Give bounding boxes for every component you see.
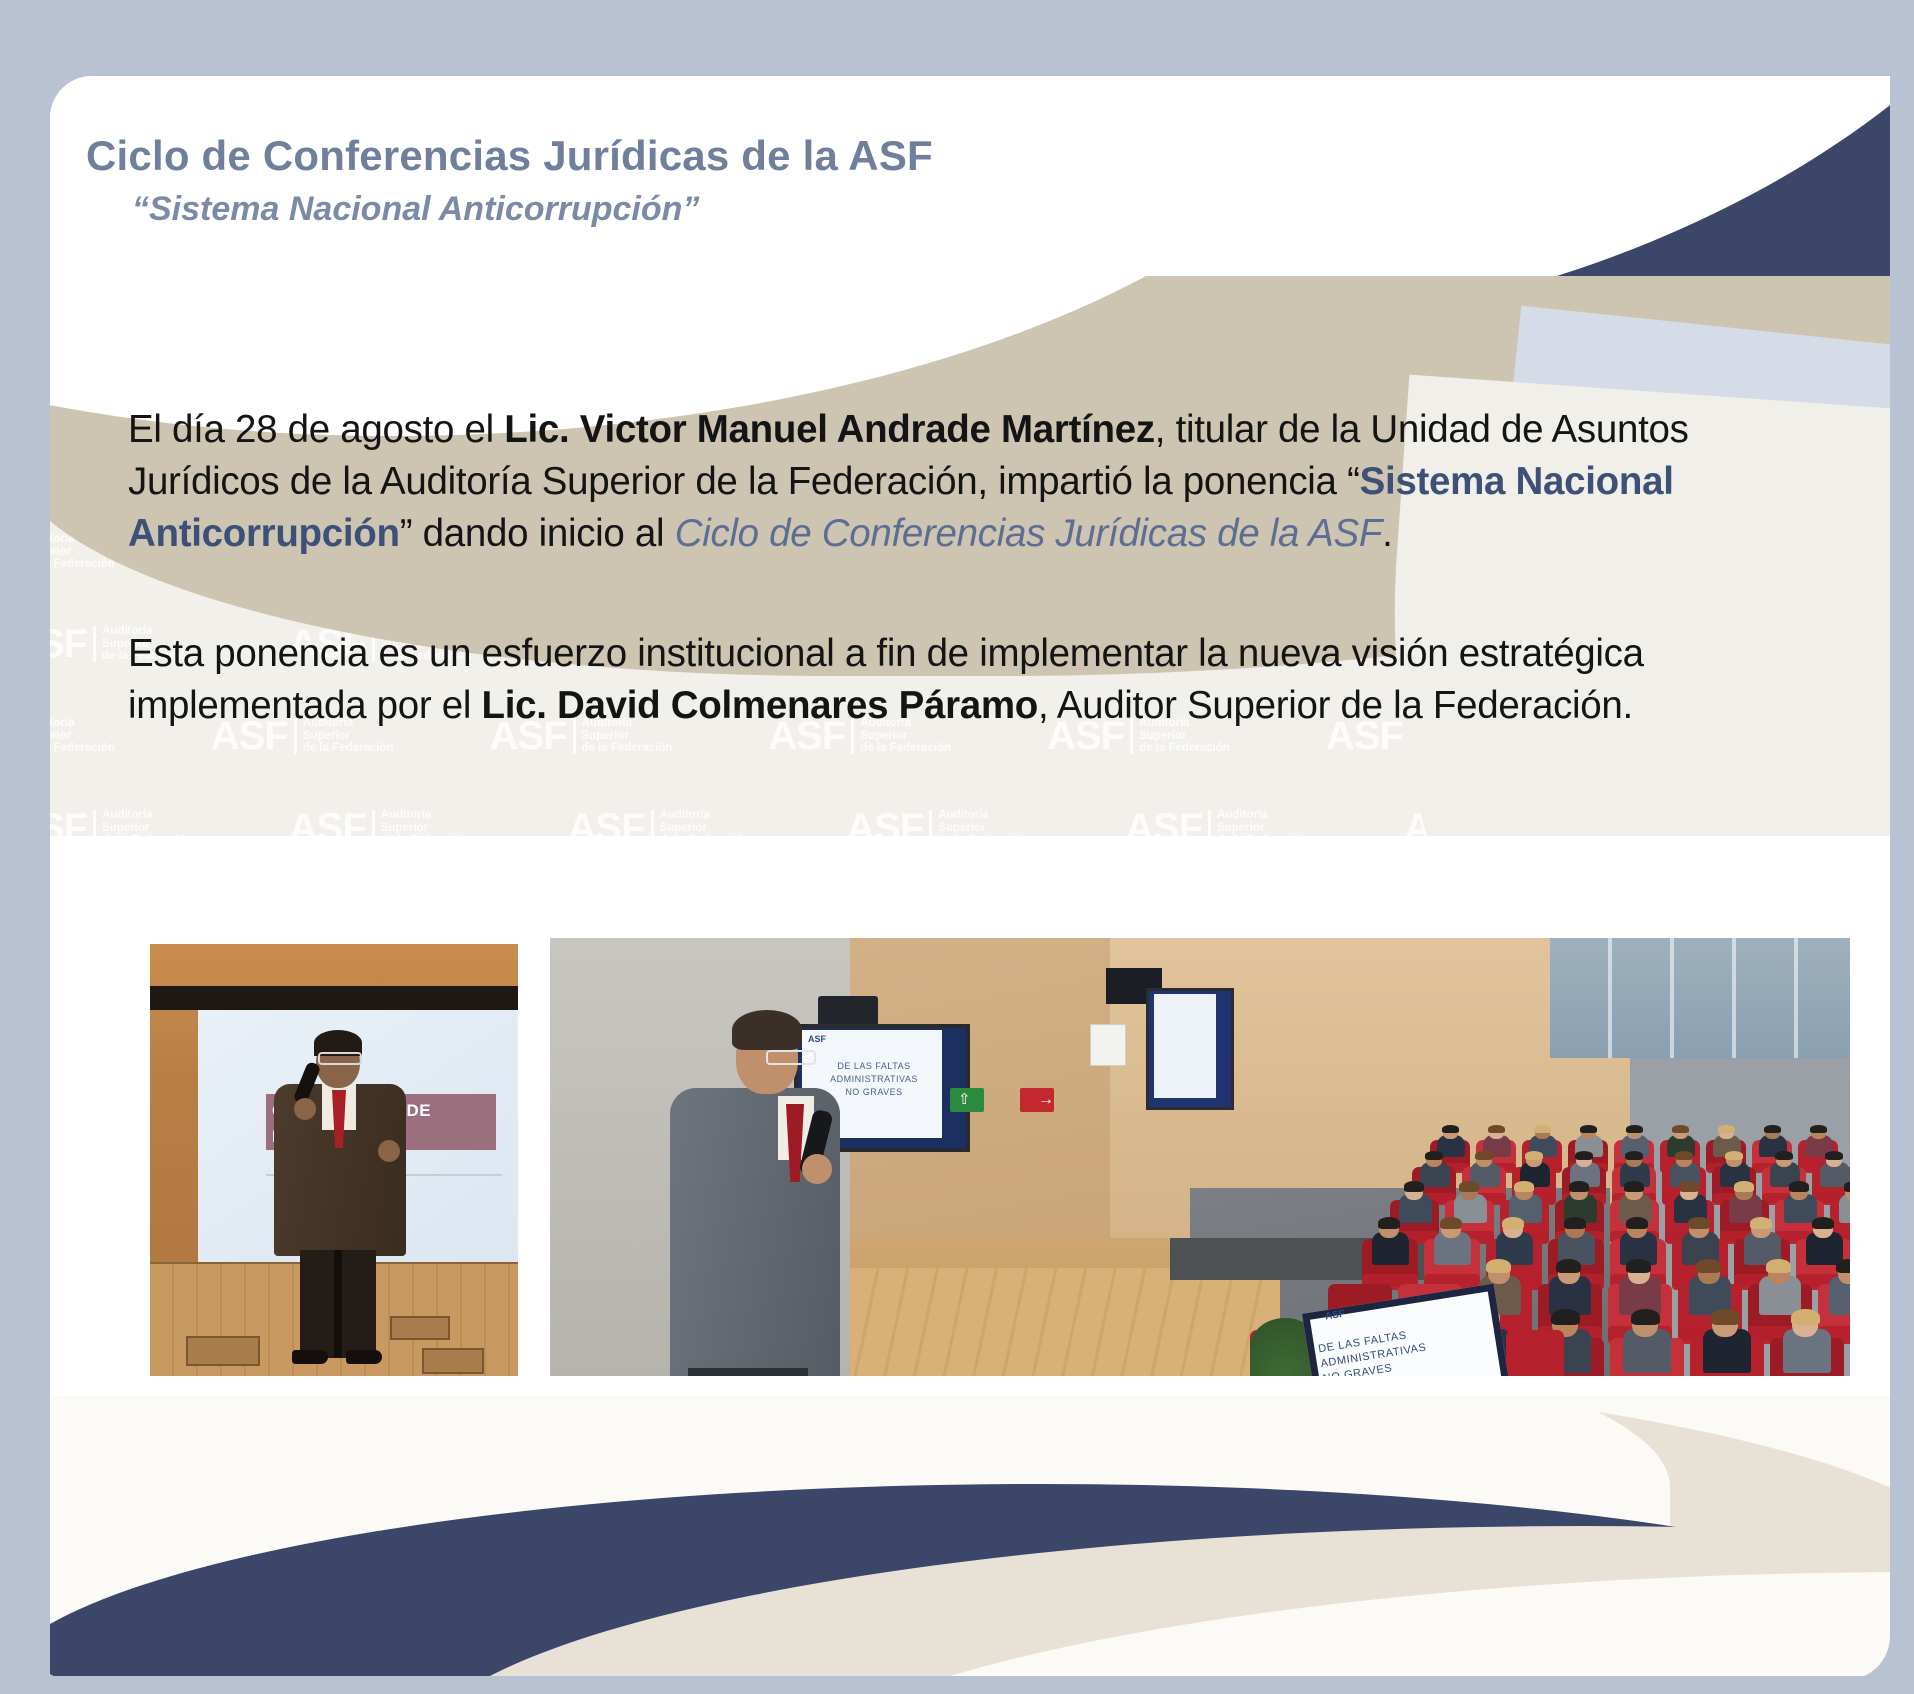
- photo1-screen-frame: [150, 986, 518, 1010]
- audience-member-hair: [1378, 1217, 1400, 1229]
- audience-member-hair: [1626, 1125, 1643, 1133]
- audience-member-hair: [1631, 1309, 1660, 1325]
- audience-member-hair: [1580, 1125, 1597, 1133]
- photo1-speaker-hand-left: [294, 1098, 316, 1120]
- photo1-floor-hatch-1: [186, 1336, 260, 1366]
- watermark-acronym: ASF: [289, 808, 366, 836]
- watermark-asf-logo: ASFAuditoríaSuperiorde la Federación: [568, 808, 751, 836]
- audience-member-hair: [1626, 1259, 1651, 1273]
- watermark-lines: AuditoríaSuperiorde la Federación: [102, 809, 193, 836]
- watermark-acronym: ASF: [50, 624, 87, 664]
- audience-member-hair: [1564, 1217, 1586, 1229]
- photo1-speaker-legs: [300, 1250, 376, 1358]
- photo1-speaker-shoe-left: [292, 1350, 328, 1364]
- p2-seg3: , Auditor Superior de la Federación.: [1038, 684, 1633, 727]
- p1-series-title: Ciclo de Conferencias Jurídicas de la AS…: [675, 512, 1382, 555]
- audience-member-hair: [1442, 1125, 1459, 1133]
- watermark-acronym: ASF: [568, 808, 645, 836]
- photo2-speaker-hand: [802, 1154, 832, 1184]
- audience-member-hair: [1556, 1259, 1581, 1273]
- asf-logo-rule-bottom: [1210, 234, 1502, 238]
- audience-member-hair: [1775, 1151, 1793, 1160]
- watermark-divider: [93, 626, 96, 662]
- photo2-speaker-legs: [688, 1368, 808, 1376]
- audience-member-hair: [1825, 1151, 1843, 1160]
- watermark-lines: AuditoríaSuperiorde la Federación: [660, 809, 751, 836]
- audience-member-hair: [1764, 1125, 1781, 1133]
- photo1-speaker-hand-right: [378, 1140, 400, 1162]
- p1-seg1: El día 28 de agosto el: [128, 408, 504, 451]
- photo2-speaker-hair: [732, 1010, 802, 1050]
- audience-member-hair: [1836, 1259, 1850, 1273]
- audience-member-hair: [1711, 1309, 1740, 1325]
- asf-logo-line3: de la Federación: [1353, 150, 1510, 196]
- asf-logo-line1: Auditoría: [1353, 104, 1510, 127]
- audience-member-hair: [1679, 1181, 1699, 1191]
- watermark-divider: [93, 810, 96, 836]
- audience-member-hair: [1488, 1125, 1505, 1133]
- watermark-lines: AuditoríaSuperiorde la Federación: [50, 717, 115, 756]
- audience-member-hair: [1812, 1217, 1834, 1229]
- photo-auditorium: ASF DE LAS FALTAS ADMINISTRATIVAS NO GRA…: [550, 938, 1850, 1376]
- audience-member-hair: [1791, 1309, 1820, 1325]
- audience-member-hair: [1844, 1181, 1850, 1191]
- asf-logo-divider: [1338, 104, 1343, 166]
- audience-member-hair: [1675, 1151, 1693, 1160]
- watermark-acronym: ASF: [1125, 808, 1202, 836]
- audience-member-hair: [1475, 1151, 1493, 1160]
- watermark-asf-logo: ASFAuditoríaSuperiorde la Federación: [50, 808, 193, 836]
- audience-member-hair: [1696, 1259, 1721, 1273]
- p2-auditor-name: Lic. David Colmenares Páramo: [482, 684, 1039, 727]
- audience-member-hair: [1486, 1259, 1511, 1273]
- watermark-divider: [651, 810, 654, 836]
- photo1-speaker-glasses: [318, 1052, 362, 1065]
- asf-logo: ASF Auditoría Superior de la Federación …: [1210, 102, 1510, 216]
- audience-member-hair: [1502, 1217, 1524, 1229]
- watermark-asf-logo: ASFAuditoríaSuperiorde la Federación: [1125, 808, 1308, 836]
- audience-member-hair: [1514, 1181, 1534, 1191]
- asf-logo-rule-top: [1210, 202, 1502, 207]
- page-title: Ciclo de Conferencias Jurídicas de la AS…: [86, 132, 933, 180]
- audience-member-hair: [1425, 1151, 1443, 1160]
- watermark-divider: [1208, 810, 1211, 836]
- photo1-floor-hatch-3: [422, 1348, 484, 1374]
- auditorium-seat-empty: [1506, 1330, 1564, 1376]
- audience-member-hair: [1624, 1181, 1644, 1191]
- photo-speaker-projection: O MECANISMO DE DE ACCIONES: [150, 944, 518, 1376]
- audience-member-hair: [1725, 1151, 1743, 1160]
- asf-logo-line2: Superior: [1353, 127, 1510, 150]
- watermark-divider: [372, 810, 375, 836]
- photo1-floor-hatch-2: [390, 1316, 450, 1340]
- audience-member-hair: [1766, 1259, 1791, 1273]
- slide-root: Ciclo de Conferencias Jurídicas de la AS…: [0, 0, 1914, 1694]
- photo-gallery: O MECANISMO DE DE ACCIONES: [50, 836, 1890, 1396]
- audience-member-hair: [1718, 1125, 1735, 1133]
- audience-member-hair: [1551, 1309, 1580, 1325]
- audience-member-hair: [1672, 1125, 1689, 1133]
- watermark-lines: AuditoríaSuperiorde la Federación: [938, 809, 1029, 836]
- asf-logo-camara: CÁMARA DE DIPUTADOS: [1210, 210, 1502, 230]
- audience-member-hair: [1626, 1217, 1648, 1229]
- watermark-acronym: ASF: [846, 808, 923, 836]
- audience-member-hair: [1810, 1125, 1827, 1133]
- audience-member-hair: [1734, 1181, 1754, 1191]
- audience-member-hair: [1534, 1125, 1551, 1133]
- photo1-speaker-shoe-right: [346, 1350, 382, 1364]
- p1-seg7: .: [1382, 512, 1392, 555]
- p1-speaker-name: Lic. Victor Manuel Andrade Martínez: [504, 408, 1155, 451]
- watermark-asf-logo: ASFAuditoríaSuperiorde la Federación: [50, 716, 115, 756]
- photo2-speaker-glasses: [766, 1050, 816, 1065]
- audience-member-hair: [1569, 1181, 1589, 1191]
- body-content-area: ASFAuditoríaSuperiorde la FederaciónASFA…: [50, 276, 1890, 836]
- watermark-lines: AuditoríaSuperiorde la Federación: [1217, 809, 1308, 836]
- watermark-acronym: ASF: [50, 808, 87, 836]
- watermark-divider: [929, 810, 932, 836]
- watermark-asf-logo: ASFAuditoríaSuperiorde la Federación: [289, 808, 472, 836]
- page-subtitle: “Sistema Nacional Anticorrupción”: [132, 190, 699, 229]
- audience-member-hair: [1625, 1151, 1643, 1160]
- audience-member-hair: [1750, 1217, 1772, 1229]
- audience-member-hair: [1575, 1151, 1593, 1160]
- asf-logo-acronym: ASF: [1210, 102, 1328, 159]
- watermark-lines: AuditoríaSuperiorde la Federación: [381, 809, 472, 836]
- slide-inner: Ciclo de Conferencias Jurídicas de la AS…: [50, 76, 1890, 1676]
- audience-member-hair: [1789, 1181, 1809, 1191]
- footer-decoration: [50, 1396, 1890, 1676]
- watermark-asf-logo: ASFAuditoríaSuperiorde la Federación: [846, 808, 1029, 836]
- p1-seg5: ” dando inicio al: [400, 512, 675, 555]
- paragraph-2: Esta ponencia es un esfuerzo institucion…: [128, 628, 1828, 732]
- audience-member-hair: [1440, 1217, 1462, 1229]
- audience-member-hair: [1459, 1181, 1479, 1191]
- audience-member-hair: [1404, 1181, 1424, 1191]
- audience-member-hair: [1688, 1217, 1710, 1229]
- audience-member-hair: [1525, 1151, 1543, 1160]
- paragraph-1: El día 28 de agosto el Lic. Victor Manue…: [128, 404, 1828, 560]
- slide-frame: Ciclo de Conferencias Jurídicas de la AS…: [28, 14, 1890, 1680]
